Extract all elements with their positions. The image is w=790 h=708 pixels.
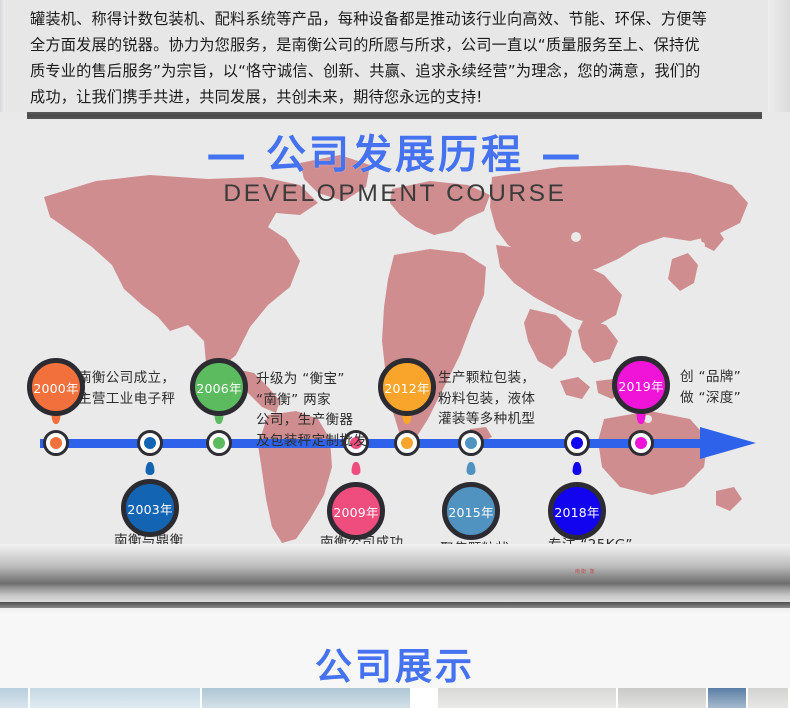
event-description-2000: 南衡公司成立， 主营工业电子秤	[78, 368, 228, 409]
event-description-2009: 南衡公司成功 转型为自动秤 包装设备生产 研发与销售	[320, 533, 440, 544]
timeline-node-2006[interactable]	[206, 430, 232, 456]
year-badge-label: 2000年	[33, 378, 78, 397]
development-heading-group: — 公司发展历程 — DEVELOPMENT COURSE	[0, 131, 790, 209]
photo-thumbnail[interactable]	[618, 688, 708, 708]
event-description-2018: 专注 “25KG” 颗粒状物料 袋装 “秒速” 封口	[548, 535, 668, 544]
timeline-node-2003[interactable]	[137, 430, 163, 456]
timeline-connector-diamond	[467, 462, 476, 475]
timeline-node-dot	[569, 435, 585, 451]
event-description-2006: 升级为 “衡宝” “南衡” 两家 公司，生产衡器 及包装秤定制批发	[256, 369, 424, 451]
photo-thumbnail-strip	[0, 688, 790, 708]
timeline-connector-diamond	[146, 462, 155, 475]
timeline-node-dot	[633, 435, 649, 451]
page-title: — 公司发展历程 —	[0, 131, 790, 179]
page-subtitle: DEVELOPMENT COURSE	[0, 179, 790, 209]
left-edge-gradient	[0, 0, 5, 112]
year-badge-2009[interactable]: 2009年	[327, 482, 385, 540]
company-showcase-section: 南衡 衡 公司展示	[0, 544, 790, 708]
event-description-2003: 南衡与鼎衡 公司合并， 主营工业 电子秤	[114, 531, 224, 544]
timeline-node-dot	[142, 435, 158, 451]
intro-line-4: 成功，让我们携手共进，共同发展，共创未来，期待您永远的支持!	[30, 84, 766, 110]
section-divider	[27, 112, 762, 119]
photo-thumbnail[interactable]	[30, 688, 202, 708]
photo-thumbnail[interactable]	[438, 688, 618, 708]
year-badge-2018[interactable]: 2018年	[548, 482, 606, 540]
intro-line-2: 全方面发展的锐器。协力为您服务，是南衡公司的所愿与所求，公司一直以“质量服务至上…	[30, 32, 766, 58]
event-description-2012: 生产颗粒包装， 粉料包装，液体 灌装等多种机型	[438, 368, 606, 430]
metal-shine-line	[0, 602, 790, 608]
year-badge-label: 2018年	[554, 502, 599, 521]
showcase-title: 公司展示	[0, 636, 790, 690]
timeline-node-2000[interactable]	[43, 430, 69, 456]
timeline-node-2015[interactable]	[458, 430, 484, 456]
photo-thumbnail[interactable]	[748, 688, 790, 708]
timeline-node-dot	[48, 435, 64, 451]
intro-line-3: 质专业的售后服务”为宗旨，以“恪守诚信、创新、共赢、追求永续经营”为理念，您的满…	[30, 58, 766, 84]
year-badge-2015[interactable]: 2015年	[442, 482, 500, 540]
intro-line-1: 罐装机、称得计数包装机、配料系统等产品，每种设备都是推动该行业向高效、节能、环保…	[30, 6, 766, 32]
event-description-2015: 聚焦颗粒状 物料称重 智能包装	[440, 539, 550, 544]
year-badge-label: 2015年	[448, 502, 493, 521]
timeline-connector-diamond	[573, 462, 582, 475]
year-badge-label: 2009年	[333, 502, 378, 521]
timeline-node-dot	[463, 435, 479, 451]
year-badge-2003[interactable]: 2003年	[121, 479, 179, 537]
event-description-2019: 创 “品牌” 做 “深度”	[680, 367, 790, 408]
timeline-connector-diamond	[352, 462, 361, 475]
year-badge-label: 2003年	[127, 499, 172, 518]
year-badge-2019[interactable]: 2019年	[612, 356, 670, 414]
page-root: 罐装机、称得计数包装机、配料系统等产品，每种设备都是推动该行业向高效、节能、环保…	[0, 0, 790, 708]
year-badge-2000[interactable]: 2000年	[27, 358, 85, 416]
photo-thumbnail[interactable]	[0, 688, 30, 708]
timeline-node-dot	[211, 435, 227, 451]
showcase-heading-group: 公司展示	[0, 636, 790, 690]
year-badge-label: 2019年	[618, 376, 663, 395]
development-course-section: — 公司发展历程 — DEVELOPMENT COURSE 2000年2003年…	[0, 119, 790, 544]
timeline-arrow-icon	[700, 427, 756, 459]
timeline-node-2019[interactable]	[628, 430, 654, 456]
timeline-node-2018[interactable]	[564, 430, 590, 456]
intro-paragraph: 罐装机、称得计数包装机、配料系统等产品，每种设备都是推动该行业向高效、节能、环保…	[0, 0, 790, 112]
photo-thumbnail[interactable]	[708, 688, 748, 708]
photo-thumbnail[interactable]	[202, 688, 412, 708]
tiny-red-label: 南衡 衡	[575, 568, 596, 575]
right-edge-gradient	[768, 0, 790, 112]
photo-thumbnail[interactable]	[414, 688, 438, 708]
